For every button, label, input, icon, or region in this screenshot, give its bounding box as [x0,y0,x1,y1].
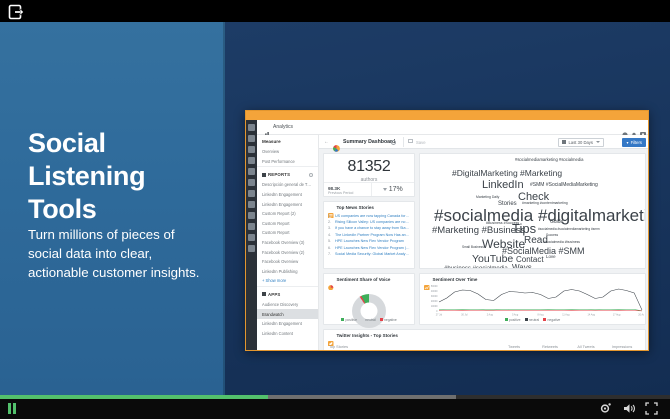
rail-icon-analytics[interactable] [248,179,255,186]
series-neutral [439,289,642,310]
page-title: Social Listening Tools [28,127,213,226]
list-item-link[interactable]: Social Media Security: Global Market Ana… [335,252,410,256]
word-cloud-term-17[interactable]: #socialmedia #business [544,241,580,244]
rail-icon-inbox[interactable] [248,146,255,153]
word-cloud-term-12[interactable]: Tips [512,222,536,235]
word-cloud-term-3[interactable]: #SMM #SocialMediaMarketing [530,183,598,188]
player-top-bar [0,0,670,22]
account-icon[interactable] [640,125,646,131]
gear-icon[interactable] [599,402,612,415]
kpi-previous-label: Previous Period [328,191,371,195]
legend-swatch-negative [380,318,383,321]
legend-item-positive: positive [341,318,357,322]
x-axis-tick: 17 Aug [613,314,621,317]
sentiment-line-chart: 50000400003000020000100000 27 Jul30 Jul2… [423,285,644,317]
word-cloud-term-22[interactable]: Love [546,255,556,259]
list-item-index: 7. [328,252,333,256]
twitter-insights-columns: Top Stories Tweets Retweets All Tweets I… [324,345,645,349]
date-range-selector[interactable]: Last 30 Days [558,138,604,147]
sidebar-item-report-6[interactable]: Facebook Overview (3) [257,238,318,248]
dashboard-app: Analytics Measure Overview Post Perfo [246,120,649,351]
sidebar-item-report-4[interactable]: Custom Report [257,219,318,229]
word-cloud-term-10[interactable]: Guide [550,220,563,225]
series-negative [439,310,642,311]
list-item[interactable]: 7.Social Media Security: Global Market A… [324,251,414,257]
kpi-delta: 17% [372,183,415,196]
pause-icon[interactable] [8,403,17,414]
donut-chart [352,294,386,328]
top-news-list[interactable]: 1.US companies are now tapping Canada fo… [324,213,414,258]
progress-bar[interactable] [0,395,670,399]
filter-icon: ▾ [626,140,628,145]
rail-icon-listen[interactable] [248,168,255,175]
sentiment-share-legend: positive neutral negative [324,318,414,322]
list-item-index: 5. [328,239,333,243]
sidebar-item-report-0[interactable]: Descripción general de Twitter [257,180,318,190]
top-news-title: Top News Stories [337,205,374,210]
x-axis-tick: 20 Aug [638,314,644,317]
sidebar-section-title: Measure [257,135,318,147]
legend-swatch-neutral [525,318,528,321]
sidebar-item-linkedin-engagement[interactable]: LinkedIn Engagement [257,319,318,329]
list-item-link[interactable]: Rising Silicon Valley: US companies are … [335,220,410,224]
column-all-tweets: All Tweets [568,345,604,349]
progress-played [0,395,268,399]
dashboard-frame-bar [246,111,648,120]
twitter-icon [328,333,334,339]
rail-icon-library[interactable] [248,212,255,219]
x-axis-tick: 2 Aug [487,314,494,317]
word-cloud-term-7[interactable]: #marketing #contentmarketing [522,202,568,205]
legend-swatch-neutral [361,318,364,321]
kpi-delta-value: 17% [389,186,403,193]
legend-swatch-negative [543,318,546,321]
legend-swatch-positive [505,318,508,321]
column-top-stories: Top Stories [329,345,496,349]
legend-swatch-positive [341,318,344,321]
slide-body-text: Turn millions of pieces of social data i… [28,226,208,283]
sentiment-share-header: Sentiment Share of Voice [324,274,414,285]
legend-item-negative: negative [380,318,397,322]
x-axis-tick: 8 Aug [537,314,544,317]
top-news-card: Top News Stories 1.US companies are now … [323,201,415,269]
twitter-insights-card: Twitter Insights - Top Stories Top Stori… [323,329,646,351]
dashboard-screenshot: Analytics Measure Overview Post Perfo [245,110,649,351]
rail-icon-profile[interactable] [248,245,255,252]
rail-icon-reports[interactable] [248,190,255,197]
back-arrow-icon[interactable]: ← [324,139,329,145]
legend-item-neutral: neutral [525,318,540,322]
reports-icon [262,173,266,177]
word-cloud-term-18[interactable]: Small Business [462,246,484,249]
sidebar-item-report-7[interactable]: Facebook Overview (2) [257,247,318,257]
gear-icon[interactable] [309,173,313,177]
share-icon[interactable] [8,3,25,20]
dashboard-content: ← Summary Dashboard [319,135,649,351]
video-player-stage: Social Listening Tools Turn millions of … [0,0,670,419]
rail-icon-tools[interactable] [248,223,255,230]
sidebar-item-linkedin-content[interactable]: LinkedIn Content [257,329,318,339]
sidebar[interactable]: Measure Overview Post Performance REPORT… [257,135,319,351]
app-title: Analytics [273,124,293,130]
list-item-index: 2. [328,220,333,224]
date-range-label: Last 30 Days [569,140,593,145]
list-item-index: 4. [328,233,333,237]
y-axis-tick: 30000 [431,295,438,298]
word-cloud-term-0[interactable]: #socialmediamarketing #socialmedia [515,158,583,162]
sidebar-item-report-1[interactable]: LinkedIn Engagement [257,190,318,200]
x-axis-tick: 5 Aug [512,314,519,317]
apps-icon [262,292,266,296]
kpi-footer: 98.3K Previous Period 17% [324,182,414,196]
sidebar-item-overview[interactable]: Overview [257,147,318,157]
x-axis-tick: 11 Aug [562,314,570,317]
sentiment-share-title: Sentiment Share of Voice [337,277,391,282]
word-cloud-term-16[interactable]: Success [546,234,558,237]
rail-icon-engage[interactable] [248,157,255,164]
kpi-card: 81352 authors 98.3K Previous Period 17% [323,153,415,197]
list-item-link[interactable]: If you have a chance to stay away from S… [335,226,410,230]
word-cloud-term-13[interactable]: #socialmedia #socialmediamarketing #smm [538,228,600,231]
news-icon [328,205,334,211]
line-icon [424,277,430,283]
x-axis-tick: 27 Jul [436,314,443,317]
sentiment-share-card: Sentiment Share of Voice positive neutra… [323,273,415,325]
sidebar-show-more-link[interactable]: + Show more [257,276,318,286]
sidebar-group-apps-label: APPS [268,292,281,297]
y-axis-tick: 20000 [431,300,438,303]
y-axis-tick: 10000 [431,305,438,308]
dashboard-toolbar: ← Summary Dashboard [319,135,649,149]
word-cloud-card: #socialmediamarketing #socialmedia#Digit… [419,153,646,269]
sentiment-time-legend: positive neutral negative [420,318,645,322]
word-cloud-term-20[interactable]: YouTube [472,254,513,265]
save-label[interactable]: Save [416,140,426,145]
sidebar-item-report-3[interactable]: Custom Report (2) [257,209,318,219]
legend-item-neutral: neutral [361,318,376,322]
filters-button[interactable]: ▾ Filters [622,138,646,147]
volume-icon[interactable] [623,402,636,415]
word-cloud-term-24[interactable]: #business #socialmedia [444,266,508,269]
chevron-down-icon [596,141,600,143]
word-cloud-term-1[interactable]: #DigitalMarketing #Marketing [452,169,562,178]
y-axis-tick: 50000 [431,285,438,288]
kpi-previous: 98.3K Previous Period [324,183,372,196]
sidebar-group-reports-label: REPORTS [268,172,290,177]
word-cloud-term-23[interactable]: Ways [512,264,532,269]
sidebar-group-apps: APPS [257,286,318,300]
sentiment-time-card: Sentiment Over Time 50000400003000020000… [419,273,646,325]
sidebar-item-report-2[interactable]: LinkedIn Engagement [257,199,318,209]
rail-icon-calendar[interactable] [248,201,255,208]
y-axis-tick: 40000 [431,290,438,293]
word-cloud-term-8[interactable]: #socialmedia #digitalmarketing [434,207,646,224]
player-controls [0,395,670,419]
word-cloud-term-2[interactable]: LinkedIn [482,180,524,191]
sentiment-time-header: Sentiment Over Time [420,274,645,285]
twitter-insights-header: Twitter Insights - Top Stories [324,330,645,341]
x-axis-tick: 14 Aug [588,314,596,317]
column-retweets: Retweets [532,345,568,349]
list-item-link[interactable]: HPE Launches New Flex Vendor Program | B… [335,246,410,250]
list-item-link[interactable]: The LinkedIn Partner Program Now Has an … [335,233,410,237]
list-item-index: 1. [328,214,333,218]
sentiment-time-title: Sentiment Over Time [433,277,478,282]
save-icon[interactable] [408,139,413,143]
legend-item-negative: negative [543,318,560,322]
app-header: Analytics [257,120,649,135]
sidebar-group-reports: REPORTS [257,166,318,180]
x-axis-tick: 30 Jul [461,314,468,317]
dashboard-logo-icon [333,139,340,146]
list-item-link[interactable]: US companies are now tapping Canada for … [335,214,410,218]
app-icon-rail[interactable] [246,120,257,351]
twitter-insights-title: Twitter Insights - Top Stories [337,333,398,338]
rail-icon-publish[interactable] [248,135,255,142]
list-item-index: 3. [328,226,333,230]
dashboard-title: Summary Dashboard [343,139,395,145]
toolbar-divider [403,137,404,147]
kpi-value: 81352 [324,158,414,176]
sidebar-item-brandwatch[interactable]: Brandwatch [257,309,318,319]
analytics-logo-icon [263,125,269,131]
column-impressions: Impressions [604,345,640,349]
slide: Social Listening Tools Turn millions of … [0,22,670,395]
bell-icon[interactable] [631,125,637,131]
list-item-link[interactable]: HPE Launches New Flex Vendor Program [335,239,404,243]
gear-icon[interactable] [391,140,396,145]
rail-icon-settings[interactable] [248,234,255,241]
legend-item-positive: positive [505,318,521,322]
calendar-icon [562,140,566,144]
sidebar-item-report-9[interactable]: LinkedIn Publishing [257,267,318,277]
sidebar-item-audience-discovery[interactable]: Audience Discovery [257,300,318,310]
sidebar-item-post-performance[interactable]: Post Performance [257,157,318,167]
top-news-header: Top News Stories [324,202,414,213]
word-cloud-term-5[interactable]: Marketing Daily [476,196,499,199]
rail-icon-home[interactable] [248,124,255,131]
pie-icon [328,277,334,283]
sidebar-item-report-5[interactable]: Custom Report [257,228,318,238]
arrow-down-icon [383,188,387,191]
filters-label: Filters [631,140,642,145]
sidebar-item-report-8[interactable]: Facebook Overview [257,257,318,267]
help-icon[interactable] [622,125,628,131]
list-item-index: 6. [328,246,333,250]
column-tweets: Tweets [496,345,532,349]
fullscreen-icon[interactable] [645,402,658,415]
